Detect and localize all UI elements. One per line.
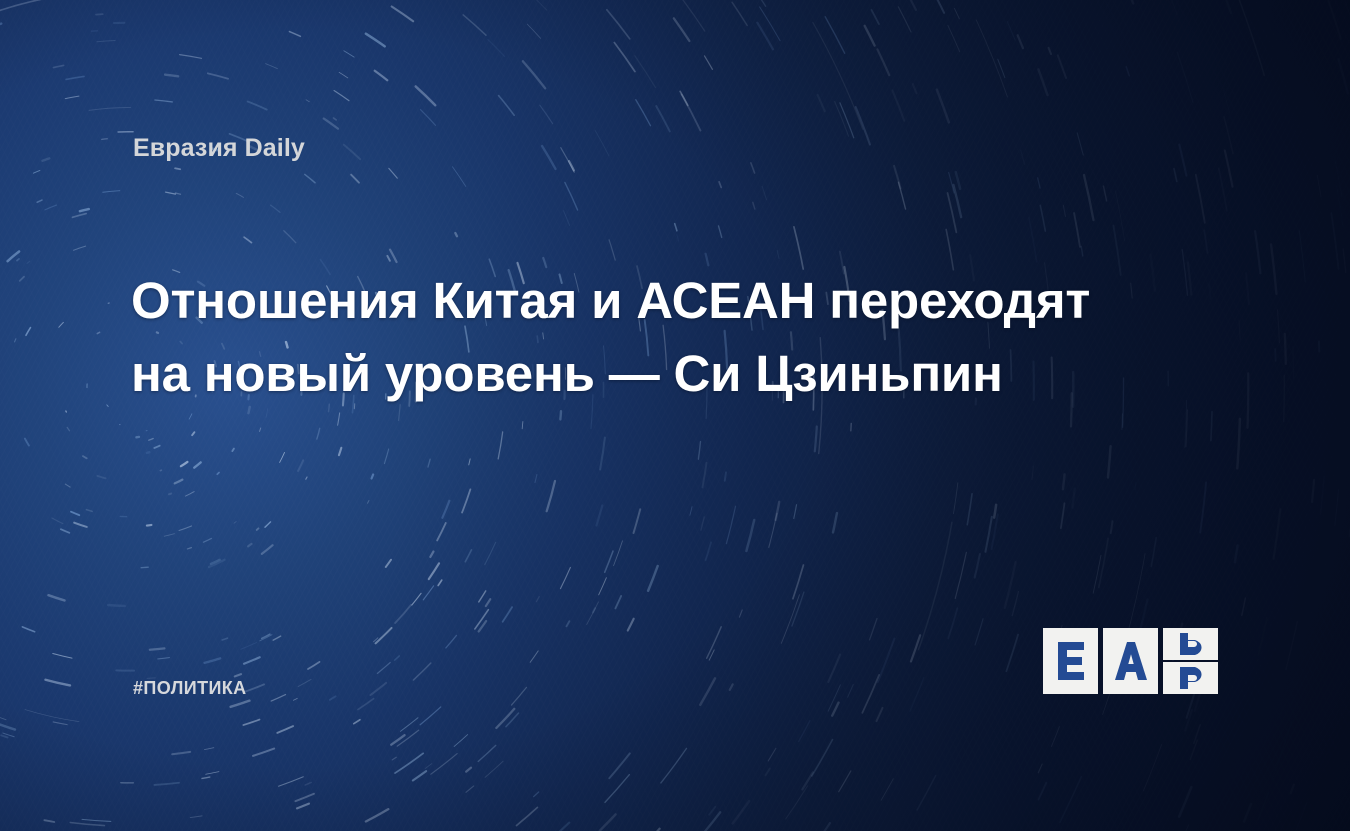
category-tag-politika[interactable]: #ПОЛИТИКА: [133, 679, 247, 697]
social-share-card: Евразия Daily Отношения Китая и АСЕАН пе…: [0, 0, 1350, 831]
letter-d-split-icon: [1176, 632, 1206, 656]
eadaily-logo[interactable]: [1043, 628, 1218, 694]
logo-tile-e: [1043, 628, 1098, 694]
brand-wordmark: Евразия Daily: [133, 136, 305, 161]
logo-tile-d: [1163, 628, 1218, 694]
headline-text: Отношения Китая и АСЕАН переходят на нов…: [131, 264, 1201, 410]
logo-tile-d-top: [1163, 628, 1218, 660]
logo-tile-d-bottom: [1163, 662, 1218, 694]
letter-a-icon: [1114, 640, 1148, 682]
card-content: Евразия Daily Отношения Китая и АСЕАН пе…: [0, 0, 1350, 831]
letter-e-icon: [1056, 640, 1086, 682]
letter-d-split-icon-mirror: [1176, 666, 1206, 690]
logo-tile-a: [1103, 628, 1158, 694]
